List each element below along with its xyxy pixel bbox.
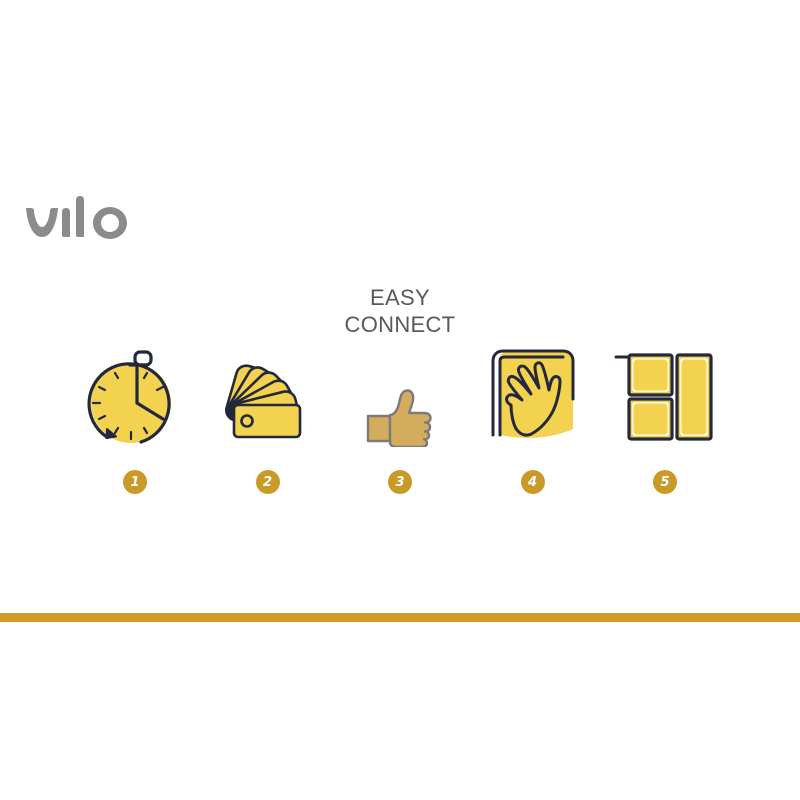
feature-icon-4 — [481, 342, 585, 447]
hand-wipe-panel-icon — [481, 343, 585, 447]
step-badge-2: 2 — [256, 470, 280, 494]
feature-badge-row-5: 5 — [653, 469, 677, 495]
step-badge-1: 1 — [123, 470, 147, 494]
feature-item-4: 4 — [473, 338, 593, 495]
brand-logo — [22, 196, 202, 256]
feature-icon-3 — [364, 342, 436, 447]
feature-item-3: EASY CONNECT 3 — [340, 284, 460, 495]
bottom-accent-bar — [0, 613, 800, 622]
feature-badge-row-3: 3 — [388, 469, 412, 495]
thumbs-up-icon — [364, 385, 436, 447]
vilo-wordmark-icon — [22, 196, 202, 256]
feature-icon-1 — [85, 342, 185, 447]
feature-item-5: 5 — [605, 338, 725, 495]
feature-item-2: 2 — [208, 338, 328, 495]
step-badge-5: 5 — [653, 470, 677, 494]
feature-badge-row-2: 2 — [256, 469, 280, 495]
feature-item-1: 1 — [75, 338, 195, 495]
step-badge-3: 3 — [388, 470, 412, 494]
panel-layout-icon — [614, 347, 716, 447]
feature-icons-strip: 1 — [75, 295, 725, 495]
feature-icon-2 — [218, 342, 318, 447]
stopwatch-timer-icon — [85, 343, 185, 447]
feature-caption-3: EASY CONNECT — [345, 284, 456, 338]
step-badge-4: 4 — [521, 470, 545, 494]
feature-icon-5 — [614, 342, 716, 447]
color-swatch-fan-icon — [218, 343, 318, 447]
feature-badge-row-1: 1 — [123, 469, 147, 495]
feature-badge-row-4: 4 — [521, 469, 545, 495]
